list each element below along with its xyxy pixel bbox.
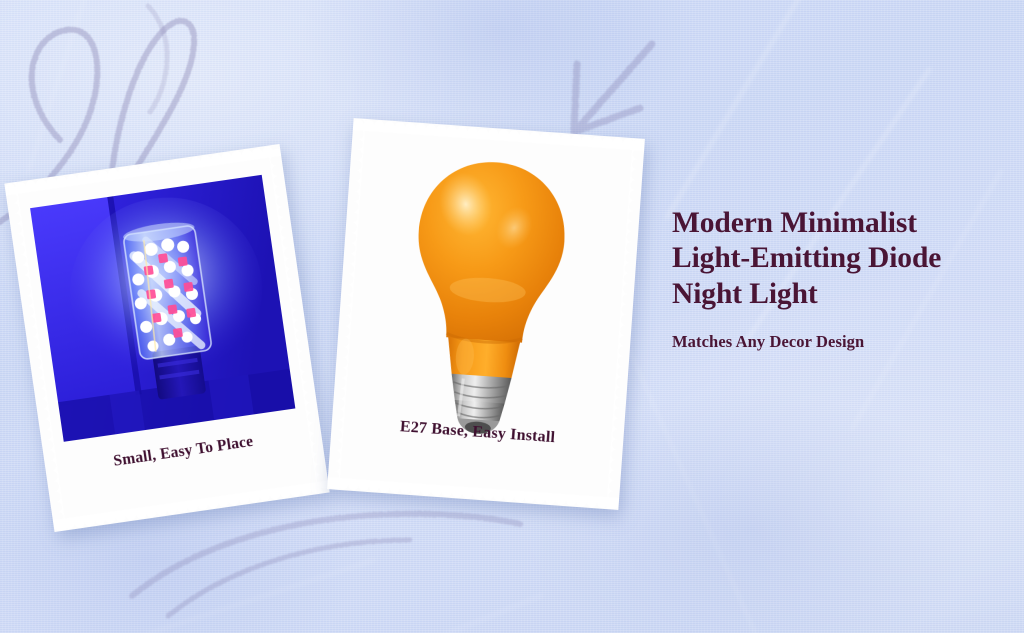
headline-line-1: Modern Minimalist xyxy=(672,206,1002,241)
hand-drawn-arrow-icon xyxy=(574,44,652,132)
headline-line-2: Light-Emitting Diode xyxy=(672,241,1002,276)
orange-bulb-photo xyxy=(332,134,644,444)
product-card-led[interactable]: Small, Easy To Place xyxy=(4,144,329,532)
page-subtitle: Matches Any Decor Design xyxy=(672,332,1002,352)
product-card-bulb[interactable]: E27 Base, Easy Install xyxy=(327,118,645,510)
promo-text-block: Modern Minimalist Light-Emitting Diode N… xyxy=(672,206,1002,352)
page-title: Modern Minimalist Light-Emitting Diode N… xyxy=(672,206,1002,312)
headline-line-3: Night Light xyxy=(672,277,1002,312)
script-scribble-doodle-2 xyxy=(148,6,167,112)
banner-canvas: Small, Easy To Place xyxy=(0,0,1024,633)
led-corn-bulb-photo xyxy=(30,175,295,442)
pencil-curve-doodle xyxy=(132,514,520,616)
